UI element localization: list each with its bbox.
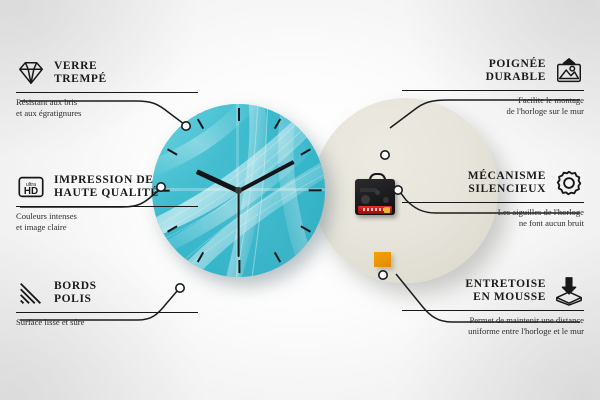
feature-title-line2: EN MOUSSE	[465, 291, 546, 305]
feature-title-line1: MÉCANISME	[468, 170, 546, 184]
feature-title: IMPRESSION DE HAUTE QUALITÉ	[54, 174, 159, 201]
feature-desc-line1: Permet de maintenir une distance	[402, 315, 584, 326]
feature-desc-line1: Résistant aux bris	[16, 97, 198, 108]
mechanism-dial	[361, 195, 370, 204]
feature-desc-line1: Surface lisse et sûre	[16, 317, 198, 328]
gear-icon	[554, 168, 584, 198]
feature-verre-trempe: VERRE TREMPÉ Résistant aux bris et aux é…	[16, 58, 198, 119]
feature-desc-line2: ne font aucun bruit	[402, 218, 584, 229]
feature-title: MÉCANISME SILENCIEUX	[468, 170, 546, 197]
feature-description: Surface lisse et sûre	[16, 317, 198, 328]
feature-divider	[402, 202, 584, 203]
clock-tick-6	[238, 260, 240, 273]
feature-title-line1: IMPRESSION DE	[54, 174, 159, 188]
infographic-canvas: VERRE TREMPÉ Résistant aux bris et aux é…	[0, 0, 600, 400]
feature-impression-haute-qualite: ultra HD IMPRESSION DE HAUTE QUALITÉ Cou…	[16, 172, 198, 233]
mechanism-knob	[383, 197, 389, 203]
feature-desc-line1: Les aiguilles de l'horloge	[402, 207, 584, 218]
feature-title-line1: ENTRETOISE	[465, 278, 546, 292]
clock-tick-12	[238, 108, 240, 121]
feature-title-line2: POLIS	[54, 293, 97, 307]
feature-entretoise-en-mousse: ENTRETOISE EN MOUSSE Permet de maintenir…	[402, 276, 584, 337]
polished-edges-icon	[16, 278, 46, 308]
foam-spacer-icon	[554, 276, 584, 306]
feature-desc-line2: uniforme entre l'horloge et le mur	[402, 326, 584, 337]
feature-title-line2: HAUTE QUALITÉ	[54, 187, 159, 201]
feature-title: ENTRETOISE EN MOUSSE	[465, 278, 546, 305]
feature-description: Facilite le montage de l'horloge sur le …	[402, 95, 584, 117]
clock-mechanism	[355, 175, 395, 215]
ultra-hd-icon: ultra HD	[16, 172, 46, 202]
feature-header: BORDS POLIS	[16, 278, 198, 308]
foam-spacer-pad	[374, 252, 391, 267]
feature-bords-polis: BORDS POLIS Surface lisse et sûre	[16, 278, 198, 328]
feature-header: ENTRETOISE EN MOUSSE	[402, 276, 584, 306]
feature-divider	[402, 90, 584, 91]
feature-desc-line2: et aux égratignures	[16, 108, 198, 119]
clock-second-hand	[238, 191, 240, 257]
feature-description: Résistant aux bris et aux égratignures	[16, 97, 198, 119]
picture-hanger-icon	[554, 56, 584, 86]
mechanism-screw	[375, 190, 380, 195]
feature-header: VERRE TREMPÉ	[16, 58, 198, 88]
feature-title-line1: BORDS	[54, 280, 97, 294]
ultra-hd-big-label: HD	[24, 186, 38, 197]
feature-title: VERRE TREMPÉ	[54, 60, 107, 87]
feature-divider	[16, 312, 198, 313]
feature-title: POIGNÉE DURABLE	[486, 58, 546, 85]
feature-desc-line1: Facilite le montage	[402, 95, 584, 106]
feature-title-line2: SILENCIEUX	[468, 183, 546, 197]
feature-title: BORDS POLIS	[54, 280, 97, 307]
clock-center-cap	[235, 187, 242, 194]
battery	[358, 206, 392, 214]
feature-description: Couleurs intenses et image claire	[16, 211, 198, 233]
feature-desc-line2: de l'horloge sur le mur	[402, 106, 584, 117]
feature-title-line2: TREMPÉ	[54, 73, 107, 87]
feature-header: MÉCANISME SILENCIEUX	[402, 168, 584, 198]
feature-title-line1: VERRE	[54, 60, 107, 74]
feature-header: POIGNÉE DURABLE	[402, 56, 584, 86]
battery-label	[363, 208, 385, 211]
feature-desc-line2: et image claire	[16, 222, 198, 233]
feature-divider	[16, 92, 198, 93]
feature-header: ultra HD IMPRESSION DE HAUTE QUALITÉ	[16, 172, 198, 202]
feature-poignee-durable: POIGNÉE DURABLE Facilite le montage de l…	[402, 56, 584, 117]
feature-desc-line1: Couleurs intenses	[16, 211, 198, 222]
feature-description: Permet de maintenir une distance uniform…	[402, 315, 584, 337]
diamond-icon	[16, 58, 46, 88]
feature-divider	[402, 310, 584, 311]
feature-title-line1: POIGNÉE	[486, 58, 546, 72]
mechanism-body	[355, 179, 395, 215]
feature-divider	[16, 206, 198, 207]
clock-tick-3	[308, 189, 321, 191]
feature-mecanisme-silencieux: MÉCANISME SILENCIEUX Les aiguilles de l'…	[402, 168, 584, 229]
feature-description: Les aiguilles de l'horloge ne font aucun…	[402, 207, 584, 229]
feature-title-line2: DURABLE	[486, 71, 546, 85]
